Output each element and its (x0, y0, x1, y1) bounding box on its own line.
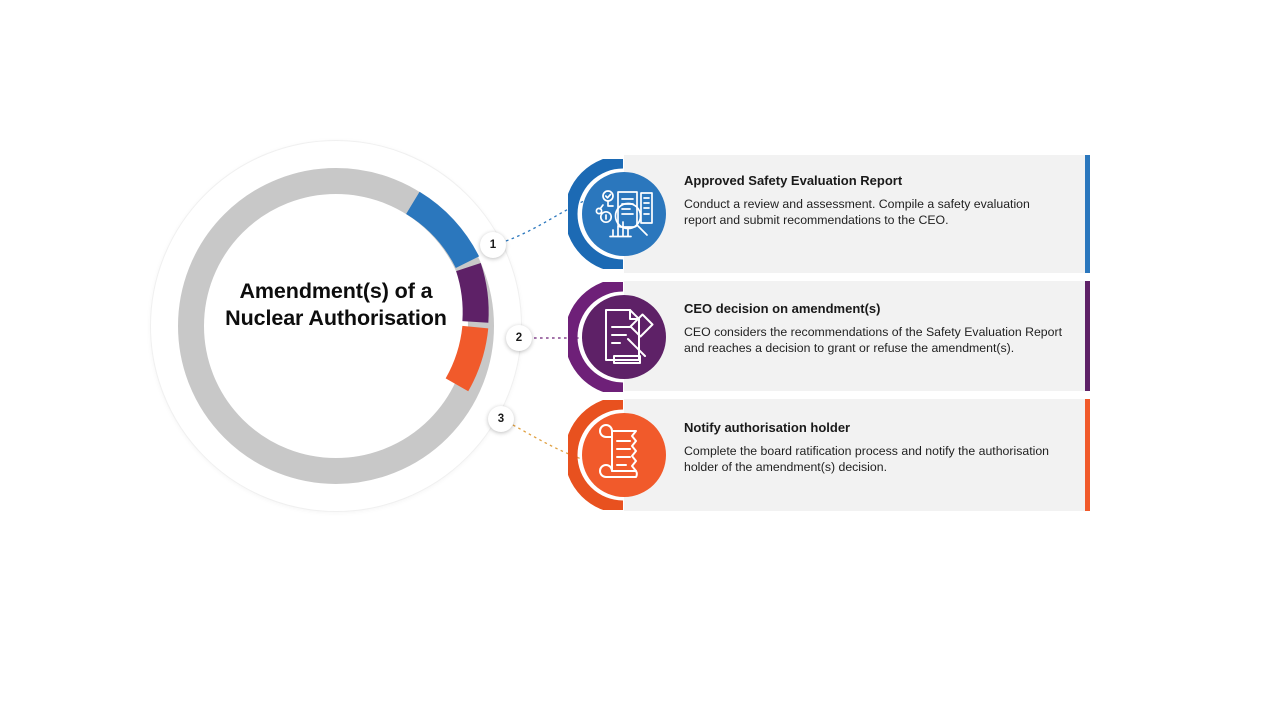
step-badge-2[interactable]: 2 (506, 325, 532, 351)
step-card-3-text: Notify authorisation holder Complete the… (684, 420, 1064, 475)
step-card-1[interactable]: Approved Safety Evaluation Report Conduc… (624, 155, 1090, 273)
step-card-3[interactable]: Notify authorisation holder Complete the… (624, 399, 1090, 511)
step-card-1-accent-bar (1085, 155, 1090, 273)
donut-segment-1 (413, 203, 468, 262)
step-badge-2-label: 2 (516, 332, 522, 344)
process-hub: Amendment(s) of a Nuclear Authorisation (150, 140, 522, 512)
step-card-2-title: CEO decision on amendment(s) (684, 301, 1064, 317)
hub-title: Amendment(s) of a Nuclear Authorisation (198, 278, 474, 331)
step-icon-medallion-3[interactable] (568, 400, 678, 510)
step-card-3-title: Notify authorisation holder (684, 420, 1064, 436)
medallion-2-disc (582, 295, 666, 379)
step-card-3-description: Complete the board ratification process … (684, 443, 1064, 475)
step-badge-1-label: 1 (490, 239, 496, 251)
donut-segment-3 (457, 327, 475, 385)
infographic-canvas: Amendment(s) of a Nuclear Authorisation … (0, 0, 1280, 720)
step-card-1-description: Conduct a review and assessment. Compile… (684, 196, 1064, 228)
step-badge-3[interactable]: 3 (488, 406, 514, 432)
step-icon-medallion-2[interactable] (568, 282, 678, 392)
step-icon-medallion-1[interactable] (568, 159, 678, 269)
medallion-3-disc (582, 413, 666, 497)
step-card-2-description: CEO considers the recommendations of the… (684, 324, 1064, 356)
step-card-2-accent-bar (1085, 281, 1090, 391)
step-card-2[interactable]: CEO decision on amendment(s) CEO conside… (624, 281, 1090, 391)
step-card-1-text: Approved Safety Evaluation Report Conduc… (684, 173, 1064, 228)
step-card-1-title: Approved Safety Evaluation Report (684, 173, 1064, 189)
step-badge-3-label: 3 (498, 413, 504, 425)
step-badge-1[interactable]: 1 (480, 232, 506, 258)
step-card-3-accent-bar (1085, 399, 1090, 511)
step-card-2-text: CEO decision on amendment(s) CEO conside… (684, 301, 1064, 356)
